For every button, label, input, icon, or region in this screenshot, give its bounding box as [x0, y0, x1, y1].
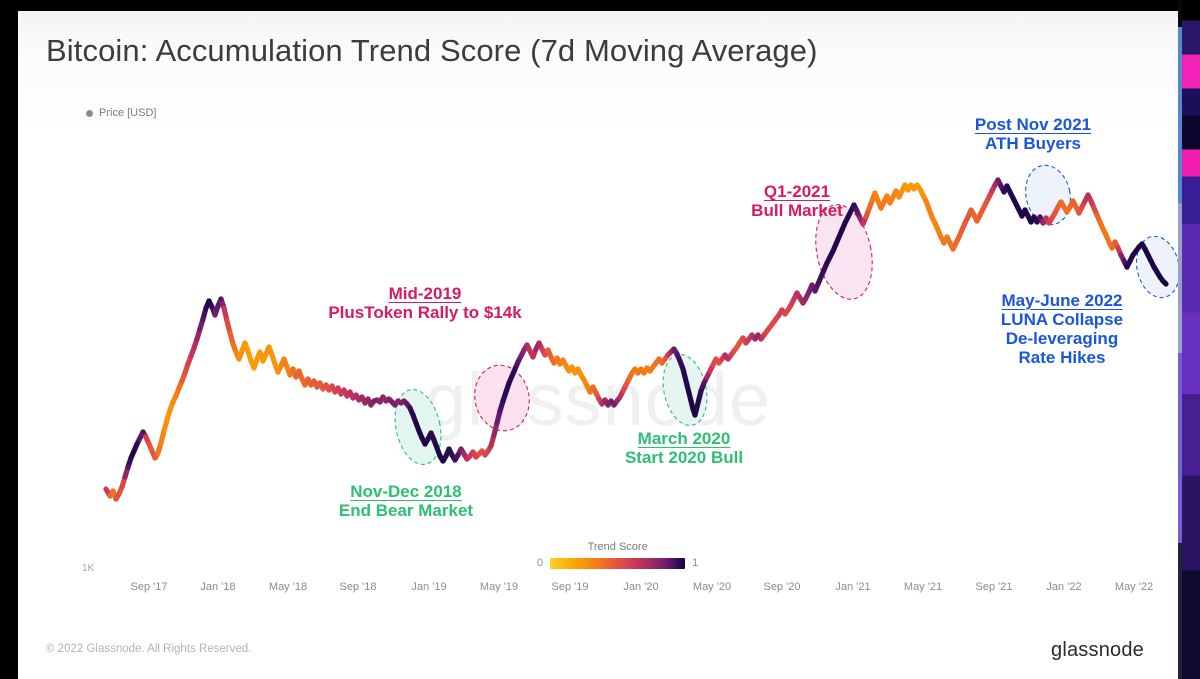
x-tick-label: May '19 — [480, 581, 518, 593]
glassnode-logo: glassnode — [1051, 639, 1144, 662]
annotation-line: De-leveraging — [1001, 329, 1123, 348]
annotation-line: Bull Market — [751, 201, 843, 220]
right-edge-video-artifact-secondary — [1178, 0, 1182, 679]
x-tick-label: Sep '18 — [340, 581, 377, 593]
x-tick-label: Jan '18 — [200, 581, 235, 593]
annotation-line: ATH Buyers — [975, 134, 1091, 153]
annotation-line: LUNA Collapse — [1001, 310, 1123, 329]
colorbar-title: Trend Score — [537, 541, 698, 553]
right-edge-video-artifact — [1182, 0, 1200, 679]
x-tick-label: Sep '19 — [552, 581, 589, 593]
x-tick-label: Jan '19 — [411, 581, 446, 593]
footer-copyright: © 2022 Glassnode. All Rights Reserved. — [46, 643, 251, 655]
x-tick-label: Sep '20 — [764, 581, 801, 593]
annotation-may-june-2022-luna-collapse: May-June 2022LUNA CollapseDe-leveragingR… — [1001, 291, 1123, 367]
annotation-line: March 2020 — [625, 429, 743, 448]
colorbar-min-label: 0 — [537, 557, 543, 569]
annotation-line: Q1-2021 — [751, 182, 843, 201]
annotation-line: Start 2020 Bull — [625, 448, 743, 467]
annotation-nov-dec-2018-end-bear: Nov-Dec 2018End Bear Market — [339, 482, 473, 520]
screen-frame: Bitcoin: Accumulation Trend Score (7d Mo… — [0, 0, 1200, 679]
x-tick-label: Jan '20 — [623, 581, 658, 593]
annotation-march-2020-start-bull: March 2020Start 2020 Bull — [625, 429, 743, 467]
annotation-q1-2021-bull-market: Q1-2021Bull Market — [751, 182, 843, 220]
annotation-line: PlusToken Rally to $14k — [328, 303, 521, 322]
x-tick-label: Sep '17 — [131, 581, 168, 593]
x-tick-label: May '20 — [693, 581, 731, 593]
x-tick-label: May '18 — [269, 581, 307, 593]
x-tick-label: Jan '21 — [835, 581, 870, 593]
colorbar-gradient — [550, 558, 685, 569]
colorbar-legend[interactable]: Trend Score 0 1 — [537, 541, 698, 569]
annotation-post-nov-2021-ath-buyers: Post Nov 2021ATH Buyers — [975, 115, 1091, 153]
x-tick-label: Jan '22 — [1046, 581, 1081, 593]
annotation-line: May-June 2022 — [1001, 291, 1123, 310]
annotation-line: Rate Hikes — [1001, 348, 1123, 367]
annotation-line: Nov-Dec 2018 — [339, 482, 473, 501]
annotation-line: Post Nov 2021 — [975, 115, 1091, 134]
x-tick-label: May '22 — [1115, 581, 1153, 593]
x-tick-label: May '21 — [904, 581, 942, 593]
colorbar-max-label: 1 — [692, 557, 698, 569]
annotation-mid-2019-plustoken: Mid-2019PlusToken Rally to $14k — [328, 284, 521, 322]
annotation-line: Mid-2019 — [328, 284, 521, 303]
x-tick-label: Sep '21 — [976, 581, 1013, 593]
annotation-line: End Bear Market — [339, 501, 473, 520]
y-axis-label: 1K — [82, 563, 94, 574]
chart-card: Bitcoin: Accumulation Trend Score (7d Mo… — [18, 11, 1178, 679]
